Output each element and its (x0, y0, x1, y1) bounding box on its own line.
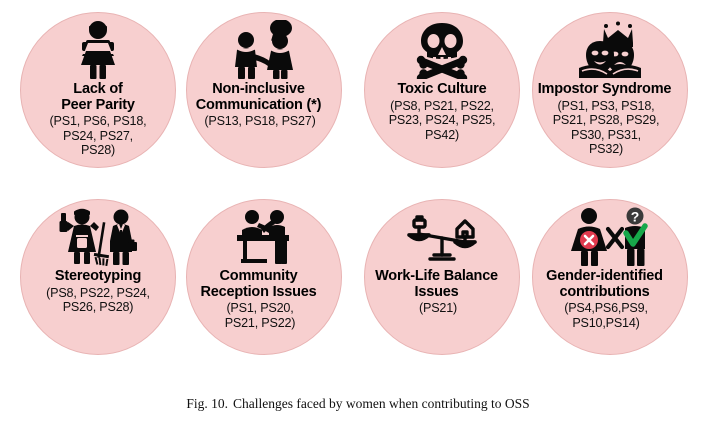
bubble-refs: (PS1, PS20, PS21, PS22) (172, 301, 348, 330)
bubble-refs: (PS4,PS6,PS9, PS10,PS14) (518, 301, 694, 330)
bubble-lack-of-peer-parity: Lack of Peer Parity (PS1, PS6, PS18, PS2… (20, 12, 176, 168)
skull-and-crossbones-icon (414, 19, 470, 81)
bubble-title: Impostor Syndrome (514, 82, 696, 98)
bubble-refs: (PS8, PS21, PS22, PS23, PS24, PS25, PS42… (387, 99, 498, 143)
bubble-refs: (PS13, PS18, PS27) (172, 114, 348, 129)
balance-scale-briefcase-house-icon (406, 206, 478, 268)
svg-text:?: ? (631, 209, 640, 225)
bubble-title: Lack of Peer Parity (59, 82, 137, 113)
figure-container: Lack of Peer Parity (PS1, PS6, PS18, PS2… (0, 0, 716, 431)
bubble-community-reception-issues: Community Reception Issues (PS1, PS20, P… (186, 199, 342, 355)
bubble-title: Stereotyping (53, 269, 143, 285)
bubble-refs: (PS1, PS6, PS18, PS24, PS27, PS28) (48, 114, 149, 158)
bubble-impostor-syndrome: Impostor Syndrome (PS1, PS3, PS18, PS21,… (532, 12, 688, 168)
bubble-title: Community Reception Issues (168, 269, 350, 300)
bubble-refs: (PS8, PS22, PS24, PS26, PS28) (44, 286, 152, 315)
figure-caption: Fig. 10.Challenges faced by women when c… (0, 396, 716, 412)
bubble-gender-identified-contributions: ? Gender-identified contributions (PS4,P… (532, 199, 688, 355)
bubble-non-inclusive-communication: Non-inclusive Communication (*) (PS13, P… (186, 12, 342, 168)
bubble-refs: (PS1, PS3, PS18, PS21, PS28, PS29, PS30,… (518, 99, 694, 157)
bubble-toxic-culture: Toxic Culture (PS8, PS21, PS22, PS23, PS… (364, 12, 520, 168)
bubble-title: Toxic Culture (396, 82, 489, 98)
bubble-title: Non-inclusive Communication (*) (168, 82, 350, 113)
woman-with-laptop-icon (72, 19, 124, 81)
woman-rejected-anonymous-accepted-icon: ? (570, 206, 650, 268)
bubble-stereotyping: Stereotyping (PS8, PS22, PS24, PS26, PS2… (20, 199, 176, 355)
bubble-title: Work-Life Balance Issues (346, 269, 528, 300)
maid-and-businessman-icon (57, 206, 139, 268)
figure-caption-text: Challenges faced by women when contribut… (233, 396, 530, 411)
bubble-title: Gender-identified contributions (514, 269, 696, 300)
reception-desk-icon (231, 206, 297, 268)
theatre-masks-crown-icon (573, 19, 647, 81)
two-people-speech-bubble-icon (227, 19, 301, 81)
bubble-work-life-balance-issues: Work-Life Balance Issues (PS21) (364, 199, 520, 355)
figure-number: Fig. 10. (186, 396, 228, 411)
bubble-refs: (PS21) (350, 301, 526, 316)
